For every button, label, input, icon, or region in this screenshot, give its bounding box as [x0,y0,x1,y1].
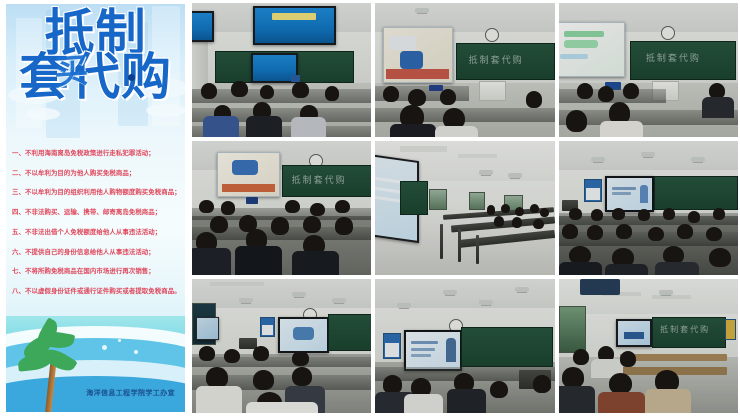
photo-cell [192,3,371,137]
blackboard [654,176,738,210]
blackboard [461,327,553,367]
slide-figure [446,338,456,362]
slide-chat-bubble [564,31,604,36]
blackboard: 抵制套代购 [652,317,726,348]
student-torso [600,121,643,137]
student-head [512,217,523,228]
poster-rules-list: 一、不利用海南离岛免税政策进行走私犯罪活动； 二、不以牟利为目的为他人购买免税商… [12,150,181,308]
slide-line [375,186,399,193]
slide-line [411,354,430,357]
smart-panel [278,317,329,353]
student-head [577,83,593,99]
student-head [569,208,582,220]
teacher-desk [239,338,257,349]
slide-line [612,192,632,195]
student-head [688,211,701,223]
student-head [638,209,651,221]
projection-screen [559,22,626,78]
student-torso [235,246,282,275]
student-head [706,227,722,242]
student-torso [404,394,443,413]
student-head [677,224,693,239]
slide-chat-bubble [560,54,589,59]
cloud-shape [26,108,60,120]
student-head [303,216,321,233]
student-head [533,375,551,392]
student-torso [203,116,239,137]
blackboard-text: 抵制套代购 [660,324,710,335]
poster-rule-item: 四、不非法购买、运输、携带、邮寄离岛免税商品； [12,209,181,215]
poster-rule-item: 七、不将所购免税商品在国内市场进行再次销售； [12,268,181,274]
projection-screen [383,27,453,83]
smart-panel [404,330,462,372]
student-torso [598,392,645,413]
ceiling-fixture [292,292,306,297]
student-torso [196,386,243,413]
poster-rule-item: 五、不非法出借个人免税额度给他人从事违法活动； [12,229,181,235]
slide-banner [272,13,316,21]
slide-figure [232,160,259,175]
student-head [713,208,726,220]
ceiling-tv-main [253,6,336,45]
student-head [325,86,339,101]
photo-cell: 抵制套代购 [559,3,738,137]
desk-leg [440,224,444,259]
ceiling-fixture [591,157,605,162]
ceiling-fixture [641,152,655,157]
window [429,189,447,210]
student-head [292,351,308,366]
student-head [210,216,228,233]
blackboard: 抵制套代购 [456,43,555,80]
student-torso [559,262,602,275]
ceiling-fixture [415,8,429,13]
desk-row [192,354,371,367]
desk-monitor [291,75,300,82]
student-head [533,219,544,230]
ceiling-light [458,154,497,158]
student-head [623,83,639,99]
slide-chat-bubble [564,40,598,49]
student-head [201,83,217,99]
student-torso [390,124,437,137]
palm-tree-icon [22,328,84,412]
ceiling-fixture [397,303,411,308]
poster-title-line-2: 套代购 [6,54,185,100]
student-head [335,200,349,213]
student-head [292,82,308,98]
slide-floor [386,69,449,79]
student-head [490,381,508,398]
slide-line [411,348,435,351]
student-head [224,349,240,364]
photo-cell [559,141,738,275]
poster-body [262,325,273,336]
student-head [199,200,213,213]
wall-clock [661,26,675,40]
wall-poster [725,319,736,340]
photo-cell: 抵制套代购 [192,141,371,275]
desk-row [620,354,728,361]
poster-credit: 海洋信息工程学院学工办宣 [86,388,175,398]
student-torso [559,386,595,413]
poster-ocean-footer: 海洋信息工程学院学工办宣 [6,316,185,412]
blackboard-text: 抵制套代购 [292,173,347,186]
photo-cell [192,279,371,413]
window [559,306,586,354]
ceiling-light [210,282,264,286]
ceiling-light [652,295,691,299]
poster-rule-item: 一、不利用海南离岛免税政策进行走私犯罪活动； [12,150,181,156]
student-head [206,367,228,387]
student-head [440,89,456,105]
desk-leg [476,235,480,264]
student-head [612,208,625,220]
ceiling-fixture [443,290,457,295]
poster-title-overlay: 买 [52,43,89,94]
slide-figure [293,327,314,340]
student-head [487,205,496,214]
poster-body [385,343,399,357]
student-torso [447,389,486,413]
projection-screen [217,152,280,197]
student-head [310,203,324,216]
wall-poster [383,333,401,359]
slide-figure [640,185,647,203]
poster-rule-item: 二、不以牟利为目的为他人购买免税商品； [12,170,181,176]
student-head [383,86,399,102]
student-head [530,204,539,213]
bubble-shape [118,339,121,342]
student-head [562,367,584,387]
photo-collage: 抵制 套代购 买 一、不利用海南离岛免税政策进行走私犯罪活动； 二、不以牟利为目… [0,0,740,416]
ceiling-fixture [239,298,253,303]
blackboard-text: 抵制套代购 [646,51,701,64]
student-head [663,208,676,220]
student-torso [246,402,318,413]
student-head [408,89,426,106]
slide-figure [624,332,645,338]
desk-monitor [246,197,259,204]
slide-floor [222,184,276,193]
anti-proxy-purchasing-poster: 抵制 套代购 买 一、不利用海南离岛免税政策进行走私犯罪活动； 二、不以牟利为目… [0,0,190,416]
student-head [562,224,578,239]
student-head [501,204,510,213]
student-torso [702,97,734,118]
student-head [199,346,215,361]
projector [580,279,619,295]
student-head [253,346,269,361]
smart-panel [616,319,652,347]
poster-body [586,188,600,200]
student-head [292,367,312,386]
student-head [620,351,636,367]
blackboard [328,314,371,351]
student-torso [435,126,478,137]
ceiling-tv-left [192,11,214,42]
bubble-shape [102,345,107,350]
wall-poster [260,317,275,338]
student-torso [192,248,231,275]
student-head [515,207,524,216]
poster-canvas: 抵制 套代购 买 一、不利用海南离岛免税政策进行走私犯罪活动； 二、不以牟利为目… [6,4,185,412]
ceiling-fixture [508,173,522,178]
photo-cell: 抵制套代购 [559,279,738,413]
headline-dot [128,74,135,81]
photo-cell: 抵制套代购 [375,3,554,137]
student-head [587,225,603,240]
bubble-shape [134,350,138,354]
slide-figure [400,51,423,69]
student-torso [645,389,692,413]
student-head [285,200,299,213]
student-head [271,217,289,234]
student-torso [292,251,339,275]
student-head [231,81,247,97]
smart-panel [605,176,654,212]
desk-leg [458,229,462,261]
photo-cell [375,279,554,413]
slide-line [411,341,438,344]
blackboard: 抵制套代购 [282,165,372,196]
student-head [221,201,235,214]
student-head [616,224,632,239]
photo-grid: 抵制套代购 [190,0,740,416]
student-head [335,217,353,234]
ceiling-fixture [479,300,493,305]
side-display [196,317,220,340]
ceiling-fixture [515,287,529,292]
slide-line [375,196,402,203]
slide-figure [389,36,416,50]
wall-poster [584,179,602,202]
blackboard-text: 抵制套代购 [469,53,524,66]
ceiling-fixture [691,157,705,162]
ceiling-light [400,146,447,151]
student-torso [246,116,282,137]
slide-line [612,187,636,190]
photo-cell [375,141,554,275]
poster-rule-item: 八、不以虚假身份证件或通行证件购买或者提取免税商品。 [12,288,181,294]
student-torso [291,117,327,137]
desk-row [192,89,371,104]
student-torso [605,264,648,275]
student-head [598,86,614,102]
ceiling-fixture [479,170,493,175]
student-head [573,349,589,365]
blackboard: 抵制套代购 [630,41,736,81]
blackboard [400,181,427,215]
student-head [526,91,542,107]
student-head [494,216,505,227]
poster-rule-item: 三、不以牟利为目的组织利用他人购物额度购买免税商品； [12,189,181,195]
poster-rule-item: 六、不提供自己的身份信息给他人从事违法活动； [12,249,181,255]
ceiling-fixture [332,298,346,303]
ceiling-fixture [659,290,673,295]
student-torso [655,262,698,275]
cabinet [479,81,506,102]
student-head [566,110,588,131]
window [469,192,485,210]
student-head [253,370,275,390]
student-head [709,248,731,267]
poster-headline: 抵制 套代购 [6,10,185,100]
